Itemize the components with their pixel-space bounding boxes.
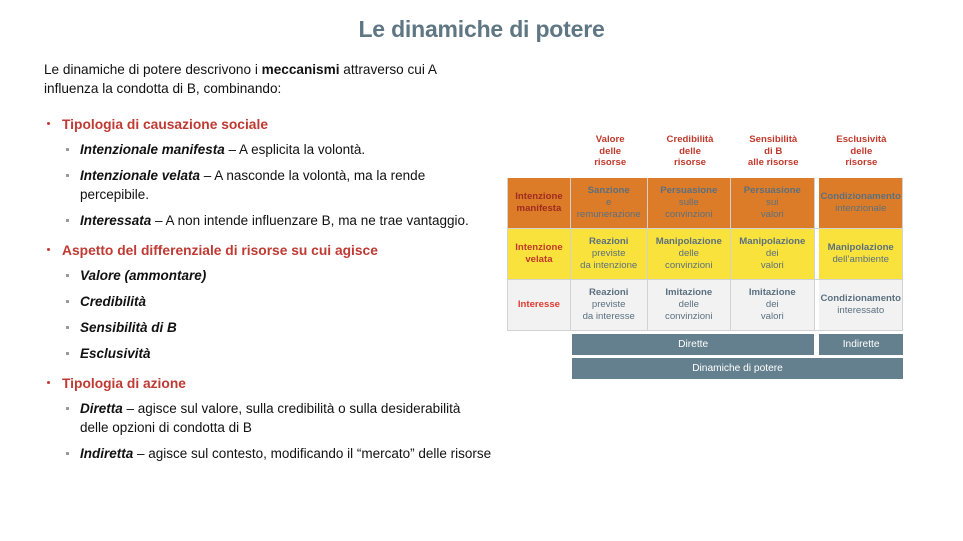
row-label-line-1: Interesse [518,299,560,311]
list-item-rest: – A esplicita la volontà. [225,142,365,157]
header-line-2: delle [679,146,701,158]
cell-line-2: dei [766,248,779,260]
cell-line-1: Manipolazione [828,242,894,254]
matrix-cell: Reazioni previste da intenzione [571,229,648,280]
cell-line-2: delle [679,299,699,311]
cell-line-3: da interesse [583,311,635,323]
cell-line-2: dell’ambiente [832,254,889,266]
list-item-term: Credibilità [80,294,146,309]
matrix-row-interesse: Interesse Reazioni previste da interesse… [507,280,903,331]
list-item-rest: – agisce sul valore, sulla credibilità o… [80,401,460,435]
cell-line-2: sulle [679,197,699,209]
section-heading-label: Aspetto del differenziale di risorse su … [62,243,378,258]
cell-line-2: previste [592,248,626,260]
header-line-3: risorse [845,157,877,169]
cell-line-1: Manipolazione [656,236,722,248]
list-item-term: Intenzionale manifesta [80,142,225,157]
row-label: Interesse [507,280,571,331]
section-causazione-sociale: Tipologia di causazione sociale Intenzio… [44,115,492,230]
header-line-2: di B [764,146,782,158]
list-item: Intenzionale velata – A nasconde la volo… [44,166,492,204]
section-heading-label: Tipologia di causazione sociale [62,117,268,132]
header-line-1: Valore [596,134,625,146]
cell-line-3: valori [761,260,784,272]
page-title: Le dinamiche di potere [0,16,963,43]
cell-line-1: Condizionamento [820,293,900,305]
bullet-square-icon [66,174,69,177]
cell-line-1: Persuasione [744,185,801,197]
row-label: Intenzione manifesta [507,178,571,229]
list-item-term: Diretta [80,401,123,416]
cell-line-1: Manipolazione [739,236,805,248]
matrix-cell: Condizionamento intenzionale [819,178,903,229]
list-item-term: Interessata [80,213,151,228]
matrix-cell: Sanzione e remunerazione [571,178,648,229]
footer-bar-indirette: Indirette [819,334,903,355]
bullet-dot-icon [47,248,50,251]
header-line-3: alle risorse [748,157,799,169]
column-header-valore: Valore delle risorse [572,133,648,178]
cell-line-2: e [606,197,611,209]
matrix-row-intenzione-velata: Intenzione velata Reazioni previste da i… [507,229,903,280]
row-label-line-1: Intenzione [515,191,562,203]
cell-line-3: remunerazione [577,209,641,221]
intro-bold-term: meccanismi [262,62,340,77]
footer-bar-dirette: Dirette [572,334,814,355]
cell-line-3: convinzioni [665,209,712,221]
power-dynamics-matrix: Valore delle risorse Credibilità delle r… [507,133,903,379]
cell-line-2: dei [766,299,779,311]
section-heading: Aspetto del differenziale di risorse su … [44,241,492,261]
matrix-row-intenzione-manifesta: Intenzione manifesta Sanzione e remunera… [507,178,903,229]
section-heading-label: Tipologia di azione [62,376,186,391]
cell-line-1: Reazioni [589,287,628,299]
cell-line-2: interessato [837,305,884,317]
matrix-cell: Manipolazione delle convinzioni [648,229,732,280]
bullet-dot-icon [47,381,50,384]
list-item: Indiretta – agisce sul contesto, modific… [44,444,492,463]
header-line-3: risorse [594,157,626,169]
cell-line-2: previste [592,299,626,311]
cell-line-3: convinzioni [665,311,712,323]
bullet-dot-icon [47,122,50,125]
matrix-cell: Manipolazione dei valori [731,229,815,280]
header-line-1: Esclusività [836,134,886,146]
bullet-square-icon [66,407,69,410]
list-item-rest: – agisce sul contesto, modificando il “m… [133,446,491,461]
intro-paragraph: Le dinamiche di potere descrivono i mecc… [44,60,492,98]
row-label: Intenzione velata [507,229,571,280]
cell-line-3: valori [761,311,784,323]
header-line-2: delle [599,146,621,158]
cell-line-3: valori [761,209,784,221]
list-item: Valore (ammontare) [44,266,492,285]
row-label-line-2: manifesta [517,203,562,215]
column-header-sensibilita: Sensibilità di B alle risorse [732,133,815,178]
cell-line-3: da intenzione [580,260,637,272]
bullet-square-icon [66,452,69,455]
list-item-rest: – A non intende influenzare B, ma ne tra… [151,213,468,228]
intro-part1: Le dinamiche di potere descrivono i [44,62,262,77]
matrix-cell: Persuasione sui valori [731,178,815,229]
column-header-credibilita: Credibilità delle risorse [648,133,731,178]
list-item: Intenzionale manifesta – A esplicita la … [44,140,492,159]
bullet-square-icon [66,352,69,355]
list-item: Sensibilità di B [44,318,492,337]
section-heading: Tipologia di causazione sociale [44,115,492,135]
list-item-term: Sensibilità di B [80,320,177,335]
cell-line-1: Imitazione [749,287,796,299]
matrix-column-headers: Valore delle risorse Credibilità delle r… [507,133,903,178]
list-item-term: Intenzionale velata [80,168,200,183]
list-item-term: Indiretta [80,446,133,461]
cell-line-1: Reazioni [589,236,628,248]
bullet-square-icon [66,274,69,277]
header-line-1: Sensibilità [749,134,797,146]
section-differenziale-risorse: Aspetto del differenziale di risorse su … [44,241,492,363]
row-label-line-1: Intenzione [515,242,562,254]
column-header-esclusivita: Esclusività delle risorse [820,133,903,178]
cell-line-1: Sanzione [588,185,630,197]
list-item-term: Esclusività [80,346,151,361]
footer-bar-dinamiche-di-potere: Dinamiche di potere [572,358,903,379]
matrix-footer-total: Dinamiche di potere [507,358,903,379]
matrix-footer-azione: Dirette Indirette [507,334,903,355]
list-item: Esclusività [44,344,492,363]
cell-line-1: Condizionamento [820,191,900,203]
cell-line-1: Imitazione [665,287,712,299]
bullet-square-icon [66,219,69,222]
header-line-1: Credibilità [667,134,714,146]
bullet-square-icon [66,148,69,151]
matrix-cell: Imitazione delle convinzioni [648,280,732,331]
header-line-3: risorse [674,157,706,169]
cell-line-2: intenzionale [835,203,886,215]
header-line-2: delle [850,146,872,158]
content-column: Le dinamiche di potere descrivono i mecc… [44,60,492,470]
cell-line-2: sui [766,197,778,209]
cell-line-1: Persuasione [660,185,717,197]
matrix-cell: Reazioni previste da interesse [571,280,648,331]
list-item: Interessata – A non intende influenzare … [44,211,492,230]
row-label-line-2: velata [525,254,552,266]
cell-line-2: delle [679,248,699,260]
bullet-square-icon [66,326,69,329]
matrix-cell: Condizionamento interessato [819,280,903,331]
list-item-term: Valore (ammontare) [80,268,206,283]
section-heading: Tipologia di azione [44,374,492,394]
matrix-cell: Persuasione sulle convinzioni [648,178,732,229]
list-item: Diretta – agisce sul valore, sulla credi… [44,399,492,437]
matrix-cell: Manipolazione dell’ambiente [819,229,903,280]
matrix-cell: Imitazione dei valori [731,280,815,331]
section-tipologia-azione: Tipologia di azione Diretta – agisce sul… [44,374,492,463]
bullet-square-icon [66,300,69,303]
cell-line-3: convinzioni [665,260,712,272]
list-item: Credibilità [44,292,492,311]
